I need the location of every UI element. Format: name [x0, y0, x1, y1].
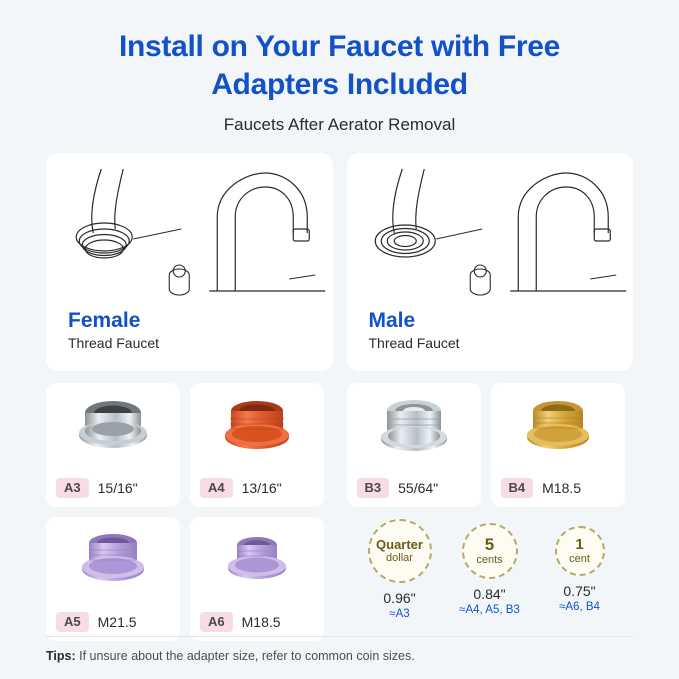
- coin-name-line1: Quarter: [376, 538, 423, 552]
- faucet-type-name: Female: [68, 309, 159, 332]
- adapter-size: 15/16": [98, 480, 138, 496]
- purple-adapter-a5-art: [46, 523, 180, 601]
- adapter-size: M21.5: [98, 614, 137, 630]
- adapter-tile-a6[interactable]: A6 M18.5: [190, 517, 324, 641]
- coin-name-line1: 5: [485, 536, 494, 554]
- male-thread-faucet-diagram: [347, 159, 634, 309]
- tips-note: Tips: If unsure about the adapter size, …: [46, 649, 415, 663]
- adapter-code: A4: [200, 478, 233, 498]
- coin-diameter: 0.75": [541, 583, 619, 599]
- adapter-row: B3 55/64": [347, 383, 634, 507]
- adapter-code: B4: [501, 478, 534, 498]
- tips-divider: [46, 636, 633, 637]
- adapter-code: B3: [357, 478, 390, 498]
- coin-item-penny: 1 cent 0.75" ≈A6, B4: [541, 519, 619, 613]
- page-title: Install on Your Faucet with Free Adapter…: [60, 28, 620, 103]
- coin-diameter: 0.96": [361, 590, 439, 606]
- faucet-type-sub: Thread Faucet: [68, 335, 159, 351]
- tips-label: Tips:: [46, 649, 76, 663]
- faucet-card-female: Female Thread Faucet: [46, 153, 333, 371]
- nickel-coin-icon: 5 cents: [462, 523, 518, 579]
- adapter-tile-a5[interactable]: A5 M21.5: [46, 517, 180, 641]
- chrome-adapter-b3-art: [347, 389, 481, 467]
- quarter-coin-icon: Quarter dollar: [368, 519, 432, 583]
- adapter-size: 55/64": [398, 480, 438, 496]
- adapter-footer: A4 13/16": [200, 478, 316, 498]
- faucet-type-name: Male: [369, 309, 460, 332]
- adapter-tile-b3[interactable]: B3 55/64": [347, 383, 481, 507]
- gold-adapter-b4-art: [491, 389, 625, 467]
- adapter-grid: A3 15/16": [0, 383, 679, 641]
- adapter-footer: B3 55/64": [357, 478, 473, 498]
- faucet-type-row: Female Thread Faucet: [0, 153, 679, 371]
- adapter-row: A3 15/16": [46, 383, 333, 507]
- infographic-page: Install on Your Faucet with Free Adapter…: [0, 0, 679, 679]
- adapter-code: A6: [200, 612, 233, 632]
- tips-text: If unsure about the adapter size, refer …: [76, 649, 415, 663]
- adapter-column-a: A3 15/16": [46, 383, 333, 641]
- adapter-size: M18.5: [242, 614, 281, 630]
- coin-name-line2: cents: [476, 554, 502, 566]
- coin-match: ≈A4, A5, B3: [451, 604, 529, 616]
- adapter-size: 13/16": [242, 480, 282, 496]
- coin-item-nickel: 5 cents 0.84" ≈A4, A5, B3: [451, 519, 529, 616]
- penny-coin-icon: 1 cent: [555, 526, 605, 576]
- coin-item-quarter: Quarter dollar 0.96" ≈A3: [361, 519, 439, 620]
- coin-match: ≈A3: [361, 608, 439, 620]
- coin-name-line2: cent: [569, 553, 590, 565]
- faucet-card-male: Male Thread Faucet: [347, 153, 634, 371]
- header: Install on Your Faucet with Free Adapter…: [0, 0, 679, 135]
- chrome-adapter-a3-art: [46, 389, 180, 467]
- adapter-code: A5: [56, 612, 89, 632]
- coin-reference-panel: Quarter dollar 0.96" ≈A3 5 cents 0.84" ≈…: [347, 517, 629, 641]
- page-subtitle: Faucets After Aerator Removal: [0, 115, 679, 135]
- adapter-size: M18.5: [542, 480, 581, 496]
- adapter-code: A3: [56, 478, 89, 498]
- adapter-footer: A3 15/16": [56, 478, 172, 498]
- faucet-card-female-label: Female Thread Faucet: [68, 309, 159, 351]
- adapter-column-b: B3 55/64": [347, 383, 634, 641]
- adapter-footer: B4 M18.5: [501, 478, 617, 498]
- coin-diameter: 0.84": [451, 586, 529, 602]
- adapter-tile-a4[interactable]: A4 13/16": [190, 383, 324, 507]
- coin-match: ≈A6, B4: [541, 601, 619, 613]
- adapter-footer: A6 M18.5: [200, 612, 316, 632]
- adapter-row: A5 M21.5: [46, 517, 333, 641]
- adapter-footer: A5 M21.5: [56, 612, 172, 632]
- coin-name-line2: dollar: [386, 552, 413, 564]
- adapter-tile-a3[interactable]: A3 15/16": [46, 383, 180, 507]
- purple-adapter-a6-art: [190, 523, 324, 601]
- faucet-card-male-label: Male Thread Faucet: [369, 309, 460, 351]
- orange-adapter-a4-art: [190, 389, 324, 467]
- coin-name-line1: 1: [575, 537, 583, 553]
- adapter-tile-b4[interactable]: B4 M18.5: [491, 383, 625, 507]
- faucet-type-sub: Thread Faucet: [369, 335, 460, 351]
- female-thread-faucet-diagram: [46, 159, 333, 309]
